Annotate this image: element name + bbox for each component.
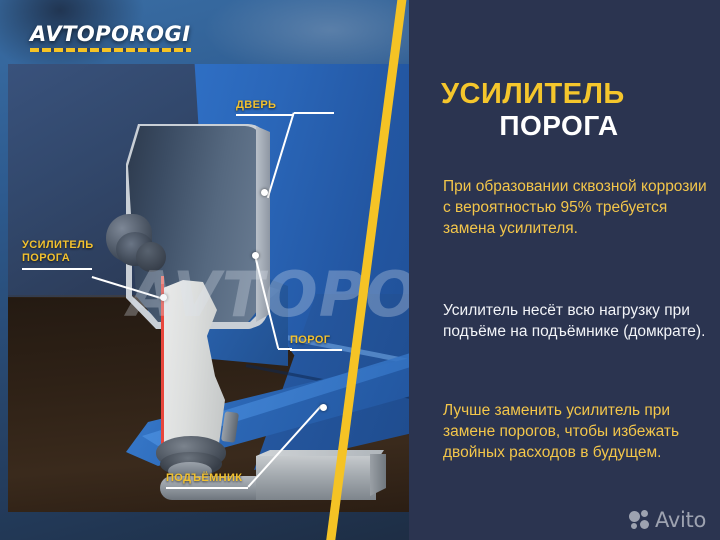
brand-logo-underline xyxy=(30,48,191,52)
content-panel: УСИЛИТЕЛЬ ПОРОГА При образовании сквозно… xyxy=(409,0,720,540)
paragraph-corrosion: При образовании сквозной коррозии с веро… xyxy=(443,176,711,239)
avito-wordmark: Avito xyxy=(655,508,706,532)
brand-logo-text: AVTOPOROGI xyxy=(30,22,191,46)
avito-dot-2 xyxy=(641,510,648,517)
callout-sill-dot xyxy=(252,252,259,259)
avito-dot-4 xyxy=(640,520,649,529)
poster-root: ДВЕРЬ УСИЛИТЕЛЬ ПОРОГА ПОРОГ xyxy=(0,0,720,540)
page-title-line-2: ПОРОГА xyxy=(441,110,677,142)
avito-dot-1 xyxy=(629,511,640,522)
callout-reinforcement-dot xyxy=(160,294,167,301)
callout-lift-dot xyxy=(320,404,327,411)
paragraph-load: Усилитель несёт всю нагрузку при подъёме… xyxy=(443,300,711,342)
callout-sill-underline xyxy=(290,349,342,351)
callout-sill-label: ПОРОГ xyxy=(290,334,342,347)
diagram-canvas: ДВЕРЬ УСИЛИТЕЛЬ ПОРОГА ПОРОГ xyxy=(8,64,470,512)
illustration-panel: ДВЕРЬ УСИЛИТЕЛЬ ПОРОГА ПОРОГ xyxy=(0,0,470,540)
content-panel-inner: УСИЛИТЕЛЬ ПОРОГА При образовании сквозно… xyxy=(409,0,720,540)
callout-door-underline xyxy=(236,114,294,116)
callout-reinforcement-underline xyxy=(22,268,92,270)
cut-line-indicator xyxy=(161,276,164,450)
callout-reinforcement: УСИЛИТЕЛЬ ПОРОГА xyxy=(22,239,94,270)
brand-logo: AVTOPOROGI xyxy=(30,22,191,52)
paragraph-advice: Лучше заменить усилитель при замене поро… xyxy=(443,400,711,463)
cut-line-highlight xyxy=(161,276,164,284)
diagram-frame: ДВЕРЬ УСИЛИТЕЛЬ ПОРОГА ПОРОГ xyxy=(8,64,470,512)
pillar-edge xyxy=(256,126,270,326)
callout-door-label: ДВЕРЬ xyxy=(236,99,294,112)
callout-lift: ПОДЪЁМНИК xyxy=(166,472,248,489)
callout-door: ДВЕРЬ xyxy=(236,99,294,116)
avito-watermark: Avito xyxy=(629,508,706,532)
page-title-line-1: УСИЛИТЕЛЬ xyxy=(441,78,711,110)
callout-sill: ПОРОГ xyxy=(290,334,342,351)
avito-dot-3 xyxy=(631,523,637,529)
page-title: УСИЛИТЕЛЬ ПОРОГА xyxy=(441,78,711,142)
callout-sill-leader-h xyxy=(278,348,292,350)
door-hinge-pin xyxy=(136,242,166,272)
callout-lift-label: ПОДЪЁМНИК xyxy=(166,472,248,485)
callout-reinforcement-label-1: УСИЛИТЕЛЬ xyxy=(22,239,94,252)
callout-door-leader-h xyxy=(294,112,334,114)
lift-pad xyxy=(256,456,376,500)
callout-lift-underline xyxy=(166,487,248,489)
callout-door-dot xyxy=(261,189,268,196)
avito-logo-icon xyxy=(629,510,651,530)
callout-reinforcement-label-2: ПОРОГА xyxy=(22,252,94,265)
